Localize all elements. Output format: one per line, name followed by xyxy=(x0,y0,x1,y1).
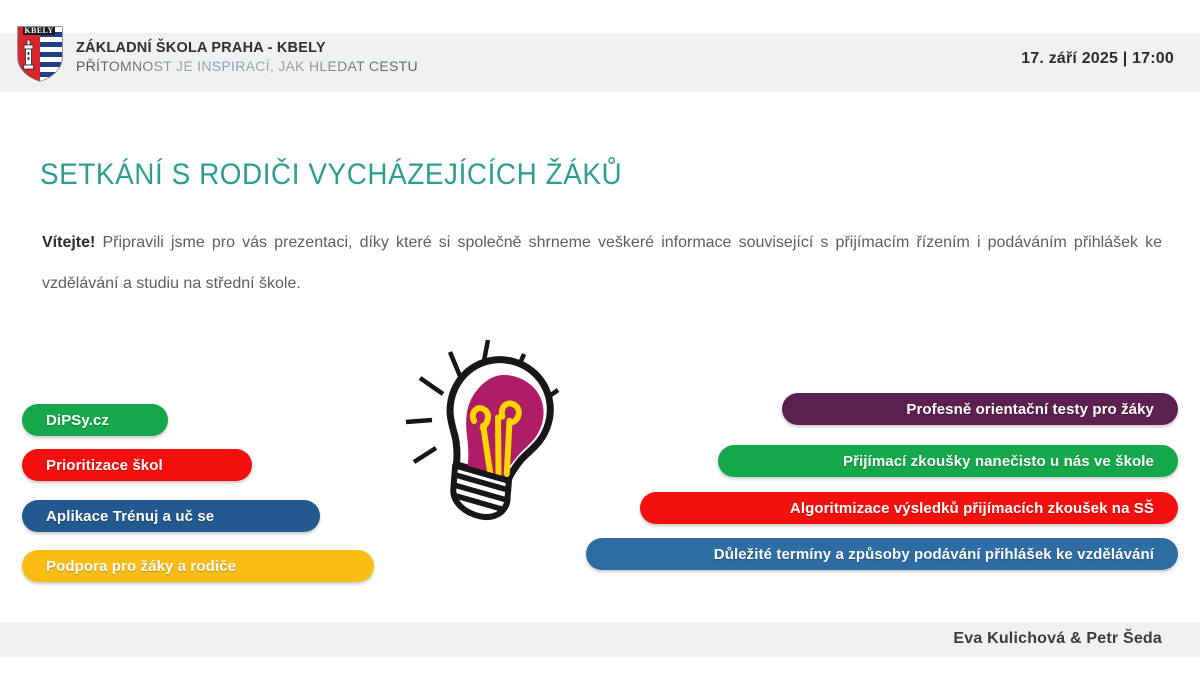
intro-paragraph: Vítejte! Připravili jsme pro vás prezent… xyxy=(42,222,1162,304)
intro-body: Připravili jsme pro vás prezentaci, díky… xyxy=(42,234,1162,292)
pill-profesne-orientacni-testy[interactable]: Profesně orientační testy pro žáky xyxy=(782,393,1178,425)
header-inner: KBELY ZÁKLADNÍ ŠKOLA PRAHA - KBELY PŘÍTO… xyxy=(0,33,1200,92)
pill-algoritmizace-vysledku[interactable]: Algoritmizace výsledků přijímacích zkouš… xyxy=(640,492,1178,524)
event-datetime: 17. září 2025 | 17:00 xyxy=(1021,50,1174,68)
pill-aplikace-trenuj-a-uc-se[interactable]: Aplikace Trénuj a uč se xyxy=(22,500,320,532)
crest-logo-text: KBELY xyxy=(24,26,53,35)
school-name: ZÁKLADNÍ ŠKOLA PRAHA - KBELY xyxy=(76,40,418,57)
pill-label: Algoritmizace výsledků přijímacích zkouš… xyxy=(790,500,1154,517)
pill-prioritizace-skol[interactable]: Prioritizace škol xyxy=(22,449,252,481)
page-title: SETKÁNÍ S RODIČI VYCHÁZEJÍCÍCH ŽÁKŮ xyxy=(40,158,622,192)
pill-label: Důležité termíny a způsoby podávání přih… xyxy=(714,546,1154,563)
pill-label: Prioritizace škol xyxy=(46,457,163,474)
school-identity: ZÁKLADNÍ ŠKOLA PRAHA - KBELY PŘÍTOMNOST … xyxy=(76,40,418,75)
pill-label: DiPSy.cz xyxy=(46,412,109,429)
school-motto: PŘÍTOMNOST JE INSPIRACÍ, JAK HLEDAT CEST… xyxy=(76,57,418,75)
pill-podpora-pro-zaky-a-rodice[interactable]: Podpora pro žáky a rodiče xyxy=(22,550,374,582)
kbely-coat-of-arms-icon: KBELY xyxy=(16,24,64,82)
pill-label: Přijímací zkoušky nanečisto u nás ve ško… xyxy=(843,453,1154,470)
footer-band: Eva Kulichová & Petr Šeda xyxy=(0,622,1200,657)
intro-greeting: Vítejte! xyxy=(42,234,95,251)
pill-label: Profesně orientační testy pro žáky xyxy=(906,401,1154,418)
pill-label: Podpora pro žáky a rodiče xyxy=(46,558,236,575)
presentation-slide: { "header": { "logo_icon": "kbely-coat-o… xyxy=(0,0,1200,675)
author-credits: Eva Kulichová & Petr Šeda xyxy=(953,630,1162,648)
pill-label: Aplikace Trénuj a uč se xyxy=(46,508,214,525)
pill-prijimaci-zkousky-nanecisto[interactable]: Přijímací zkoušky nanečisto u nás ve ško… xyxy=(718,445,1178,477)
pill-dipsy[interactable]: DiPSy.cz xyxy=(22,404,168,436)
pill-dulezite-terminy[interactable]: Důležité termíny a způsoby podávání přih… xyxy=(586,538,1178,570)
header-band: KBELY ZÁKLADNÍ ŠKOLA PRAHA - KBELY PŘÍTO… xyxy=(0,33,1200,92)
lightbulb-icon xyxy=(398,332,584,522)
